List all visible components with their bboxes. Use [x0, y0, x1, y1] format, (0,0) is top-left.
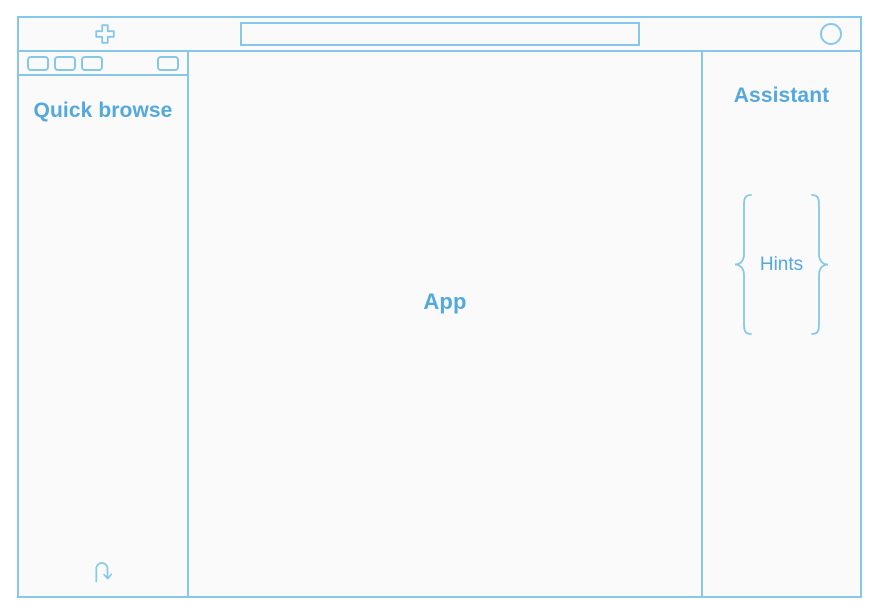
chrome-center-region — [191, 18, 688, 50]
hints-label: Hints — [756, 254, 807, 276]
sidebar-title: Quick browse — [19, 98, 187, 125]
address-bar-input[interactable] — [240, 22, 640, 46]
sidebar-footer — [19, 558, 187, 586]
browser-chrome-bar — [19, 18, 860, 52]
tab-chip-4[interactable] — [157, 56, 179, 71]
content-row: Quick browse App Assistant — [19, 52, 860, 596]
chrome-right-region — [688, 18, 860, 50]
tab-chip-2[interactable] — [54, 56, 76, 71]
sidebar-panel: Quick browse — [19, 52, 189, 596]
u-turn-arrow-icon[interactable] — [89, 558, 117, 586]
circle-avatar-icon[interactable] — [820, 23, 842, 45]
hints-block: Hints — [713, 192, 850, 337]
left-curly-brace-icon — [732, 192, 756, 337]
tab-chip-3[interactable] — [81, 56, 103, 71]
sidebar-tab-strip — [19, 52, 187, 76]
plus-icon[interactable] — [94, 23, 116, 45]
wireframe-frame: Quick browse App Assistant — [17, 16, 862, 598]
right-curly-brace-icon — [807, 192, 831, 337]
sidebar-body: Quick browse — [19, 76, 187, 596]
chrome-left-region — [19, 18, 191, 50]
app-label: App — [423, 289, 466, 315]
assistant-panel: Assistant Hints — [703, 52, 860, 596]
app-content-panel: App — [189, 52, 703, 596]
tab-chip-1[interactable] — [27, 56, 49, 71]
assistant-title: Assistant — [703, 84, 860, 108]
